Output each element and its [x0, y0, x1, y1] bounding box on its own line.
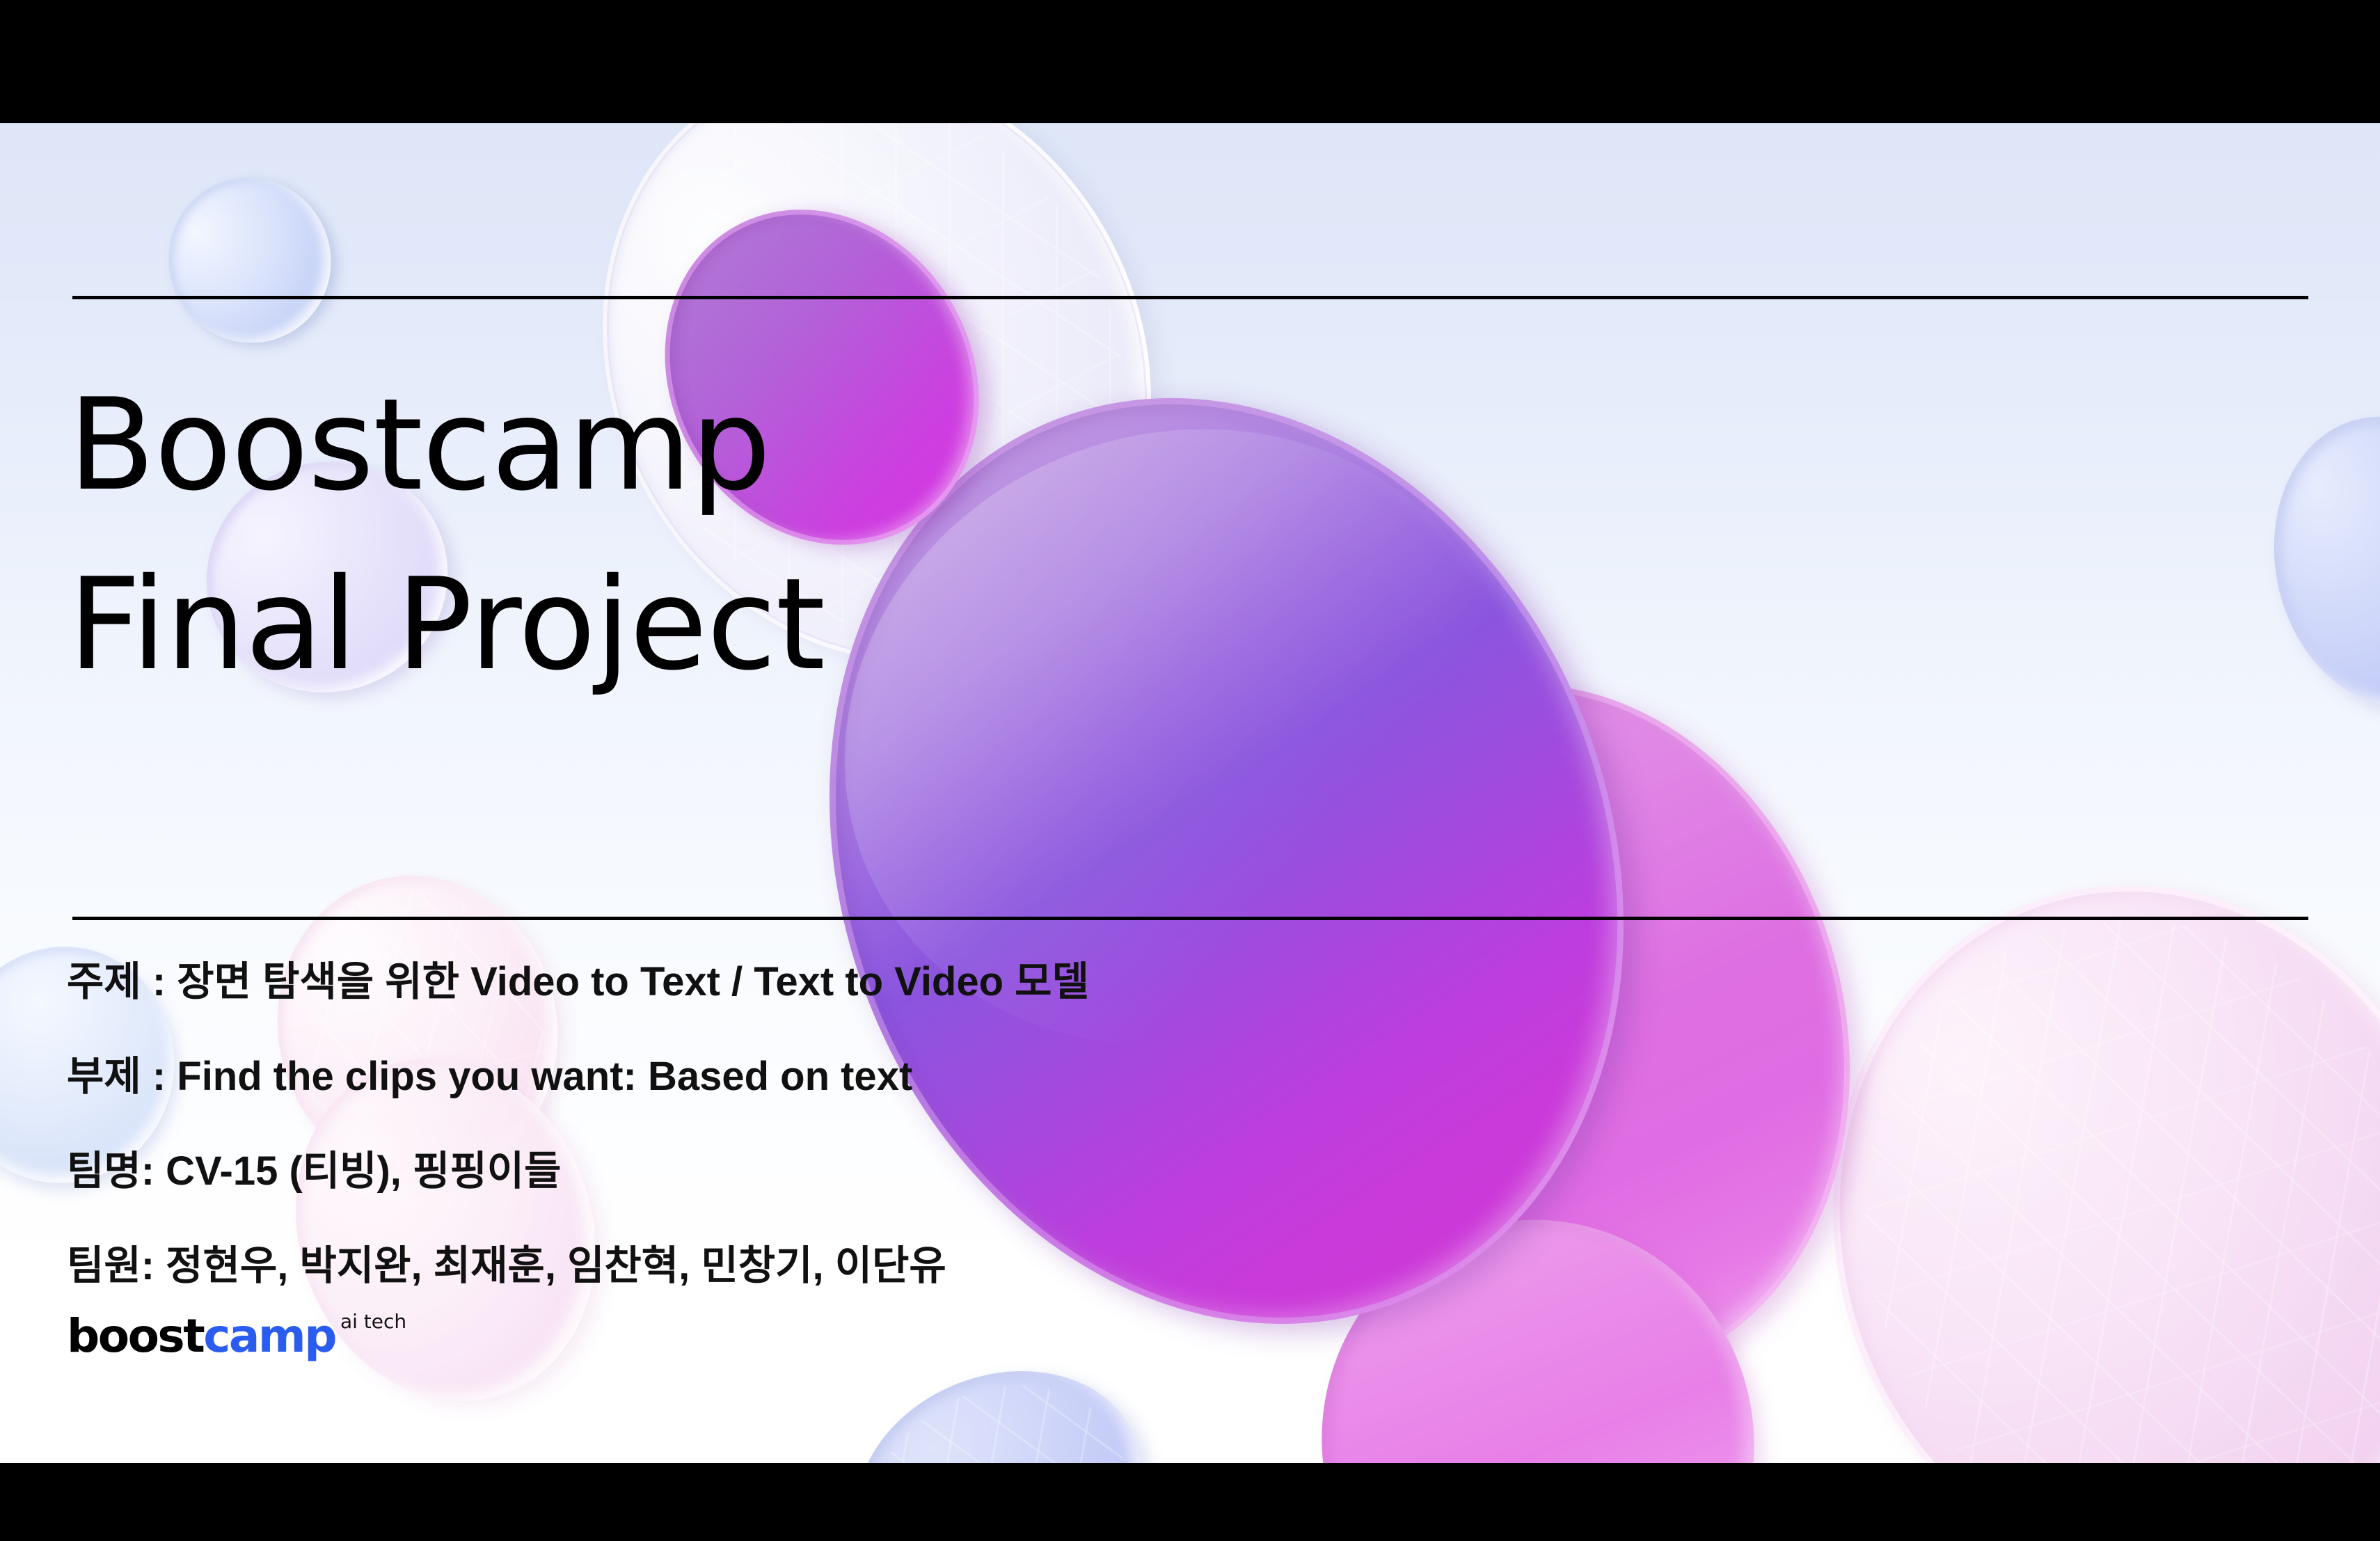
- body-line-subtitle: 부제 : Find the clips you want: Based on t…: [67, 1057, 1089, 1097]
- letterbox-bar-top: [0, 0, 2380, 123]
- presentation-slide: Boostcamp Final Project 주제 : 장면 탐색을 위한 V…: [0, 0, 2380, 1541]
- disc-facet-pattern: [841, 1349, 1155, 1463]
- logo-text-ai-tech: ai tech: [340, 1312, 406, 1331]
- body-line-team-members: 팀원: 정현우, 박지완, 최재훈, 임찬혁, 민창기, 이단유: [67, 1246, 1089, 1286]
- slide-title: Boostcamp Final Project: [68, 381, 825, 689]
- disc-rim: [1744, 803, 2380, 1463]
- logo-text-camp: camp: [203, 1313, 335, 1359]
- title-line-1: Boostcamp: [68, 381, 825, 510]
- divider-rule-middle: [72, 917, 2308, 920]
- slide-canvas: Boostcamp Final Project 주제 : 장면 탐색을 위한 V…: [0, 123, 2380, 1463]
- title-line-2: Final Project: [68, 560, 825, 690]
- decor-disc-magenta-right: [1188, 615, 1930, 1448]
- slide-body: 주제 : 장면 탐색을 위한 Video to Text / Text to V…: [67, 962, 1089, 1286]
- decor-disc-periwinkle-small: [143, 152, 358, 369]
- body-line-team-name: 팀명: CV-15 (티빙), 핑핑이들: [67, 1151, 1089, 1192]
- disc-rim: [1188, 615, 1930, 1448]
- decor-disc-blue-bottom: [820, 1329, 1177, 1463]
- body-line-topic: 주제 : 장면 탐색을 위한 Video to Text / Text to V…: [67, 962, 1089, 1002]
- disc-facet-pattern: [1784, 846, 2380, 1463]
- decor-disc-periwinkle-right: [2248, 395, 2380, 728]
- decor-disc-pink-bottom: [1275, 1174, 1801, 1463]
- boostcamp-logo: boost camp ai tech: [67, 1313, 406, 1359]
- decor-disc-pink-glass-right: [1744, 803, 2380, 1463]
- logo-text-boost: boost: [67, 1313, 203, 1359]
- divider-rule-top: [72, 296, 2308, 299]
- letterbox-bar-bottom: [0, 1463, 2380, 1541]
